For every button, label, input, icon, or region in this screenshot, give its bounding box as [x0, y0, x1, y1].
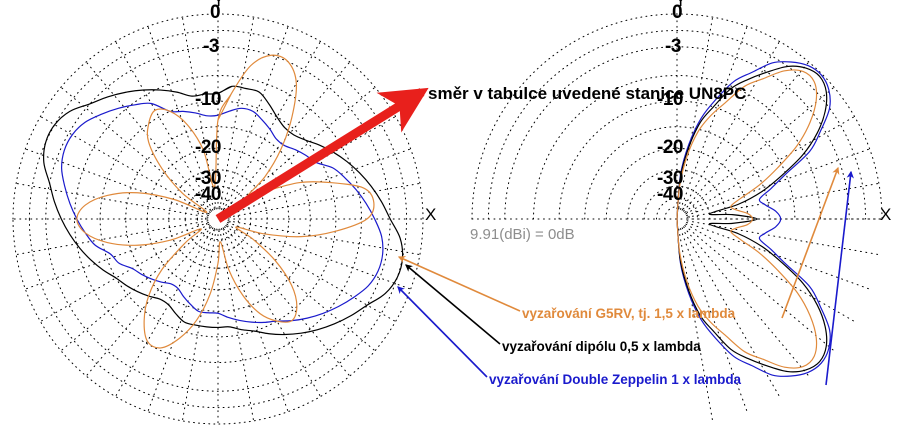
legend-item-dipole: vyzařování dipólu 0,5 x lambda: [502, 339, 701, 354]
azimuth-axis-x: X: [425, 205, 436, 225]
azimuth-scale-20: -20: [195, 137, 221, 159]
elevation-scale-20: -20: [657, 137, 683, 159]
elevation-scale-40: -40: [657, 184, 683, 206]
azimuth-scale-3: -3: [203, 36, 219, 58]
radiation-pattern-figure: 0 -3 -10 -20 -30 -40 Y X 0 -3 -10 -20 -3…: [0, 0, 902, 434]
pattern-canvas: [0, 0, 902, 434]
azimuth-scale-40: -40: [195, 184, 221, 206]
leader-zeppelin-right: [826, 172, 851, 385]
leader-g5rv-left: [399, 257, 520, 311]
elevation-scale-3: -3: [665, 36, 681, 58]
leader-zeppelin-left: [398, 287, 487, 377]
leader-dipole-left: [406, 265, 500, 344]
azimuth-scale-10: -10: [195, 89, 221, 111]
legend-item-double-zeppelin: vyzařování Double Zeppelin 1 x lambda: [489, 372, 741, 387]
azimuth-axis-y: Y: [213, 0, 224, 11]
legend-item-g5rv: vyzařování G5RV, tj. 1,5 x lambda: [522, 306, 735, 321]
station-direction-label: směr v tabulce uvedené stanice UN8PC: [428, 84, 746, 104]
elevation-axis-y: Y: [675, 0, 686, 11]
elevation-axis-x: X: [880, 205, 891, 225]
gain-reference-caption: 9.91(dBi) = 0dB: [470, 226, 575, 243]
azimuth-curves: [44, 55, 403, 348]
